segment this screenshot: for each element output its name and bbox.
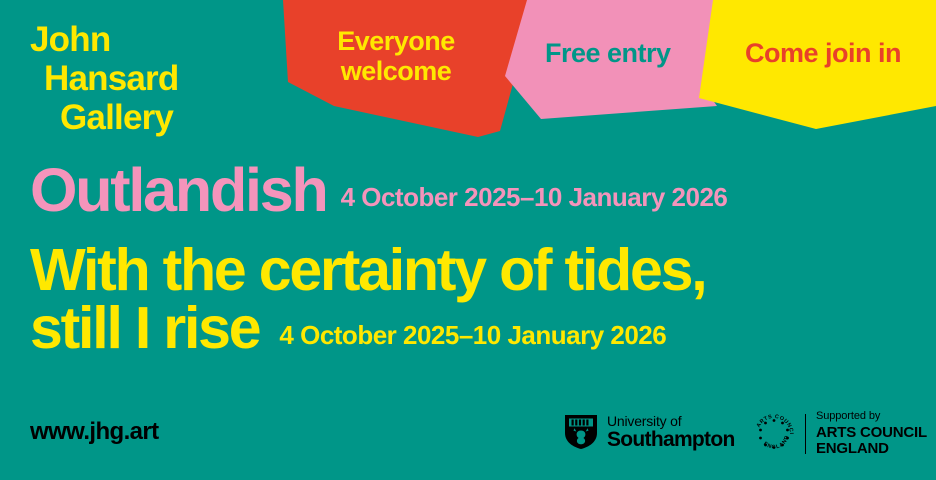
main-headline-line1: With the certainty of tides,: [30, 242, 910, 300]
ace-supported-by: Supported by: [816, 411, 927, 422]
southampton-wordmark: University of Southampton: [607, 414, 735, 450]
website-url[interactable]: www.jhg.art: [30, 418, 159, 446]
main-headline-line2: still I rise: [30, 300, 259, 358]
wordmark-line-gallery: Gallery: [30, 98, 173, 137]
ace-name-line1: ARTS COUNCIL: [816, 425, 927, 440]
arts-council-england-logo[interactable]: ARTS COUNCIL ENGLAND Supported by ARTS C…: [752, 411, 927, 456]
southampton-name-line: Southampton: [607, 429, 735, 450]
headline-dates: 4 October 2025–10 January 2026: [279, 323, 666, 348]
exhibition-dates: 4 October 2025–10 January 2026: [341, 182, 728, 213]
wordmark-line-john: John: [30, 20, 110, 59]
badge-everyone-line1: Everyone: [337, 26, 455, 56]
ace-wordmark: Supported by ARTS COUNCIL ENGLAND: [816, 411, 927, 456]
ace-name-line2: ENGLAND: [816, 441, 927, 456]
university-of-southampton-logo[interactable]: University of Southampton: [563, 413, 735, 451]
ace-divider: [805, 414, 806, 454]
main-headline: With the certainty of tides, still I ris…: [30, 242, 910, 358]
svg-text:ENGLAND: ENGLAND: [762, 434, 790, 450]
main-headline-line2-row: still I rise 4 October 2025–10 January 2…: [30, 300, 910, 358]
badge-come-join-in: Come join in: [745, 38, 901, 68]
badge-free-entry: Free entry: [545, 38, 671, 68]
headline-block: Outlandish 4 October 2025–10 January 202…: [30, 160, 910, 358]
badge-everyone-line2: welcome: [341, 56, 452, 86]
arts-council-roundel-icon: ARTS COUNCIL ENGLAND: [752, 412, 796, 456]
southampton-shield-icon: [563, 413, 599, 451]
exhibition-title-row: Outlandish 4 October 2025–10 January 202…: [30, 160, 910, 221]
poster-canvas: John Hansard Gallery Everyone welcome Fr…: [0, 0, 936, 480]
badge-everyone-welcome: Everyone welcome: [330, 26, 462, 86]
gallery-wordmark: John Hansard Gallery: [30, 20, 178, 138]
exhibition-title: Outlandish: [30, 160, 327, 221]
wordmark-line-hansard: Hansard: [30, 59, 178, 98]
southampton-university-line: University of: [607, 414, 735, 428]
